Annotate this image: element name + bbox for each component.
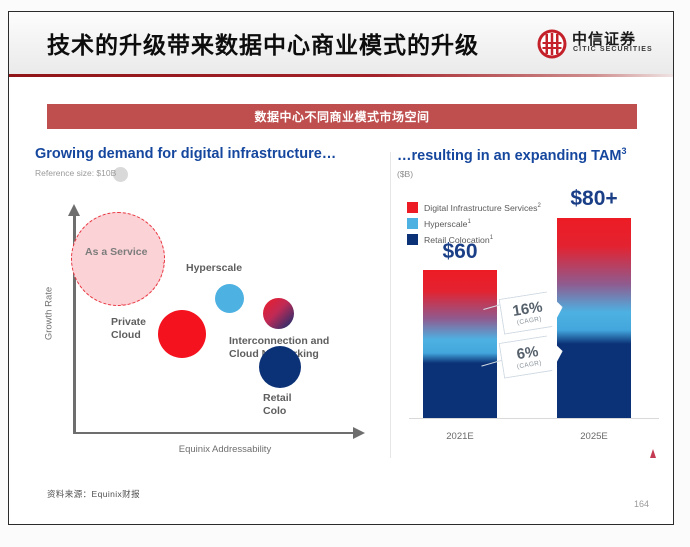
red-triangle-marker-icon xyxy=(650,449,656,458)
bubble-label-hyperscale: Hyperscale xyxy=(186,262,242,274)
page-title: 技术的升级带来数据中心商业模式的升级 xyxy=(47,26,479,60)
source-note: 资料来源：Equinix财报 xyxy=(47,488,140,500)
bar-chart-baseline xyxy=(409,418,659,419)
section-banner: 数据中心不同商业模式市场空间 xyxy=(47,104,637,129)
bar-2025e: $80+ xyxy=(557,218,631,418)
bubble-hyperscale xyxy=(215,284,244,313)
x-tick-2021e: 2021E xyxy=(423,431,497,442)
bar-total-2025e: $80+ xyxy=(557,187,631,211)
bubble-label-as-a-service: As a Service xyxy=(85,246,147,258)
right-panel: …resulting in an expanding TAM3 ($B) Dig… xyxy=(397,146,663,466)
bubble-as-a-service xyxy=(71,212,165,306)
right-panel-units: ($B) xyxy=(397,169,663,179)
x-tick-2025e: 2025E xyxy=(557,431,631,442)
bar-total-2021e: $60 xyxy=(423,240,497,264)
page-number: 164 xyxy=(634,499,649,509)
bubble-chart: Growth Rate Equinix Addressability As a … xyxy=(35,198,385,466)
y-axis-arrow-icon xyxy=(68,204,80,216)
logo-text-en: CITIC SECURITIES xyxy=(573,46,653,53)
reference-size-note: Reference size: $10B xyxy=(35,168,385,182)
citic-logo: 中信证券 CITIC SECURITIES xyxy=(537,29,655,61)
bubble-interconnection xyxy=(263,298,294,329)
reference-size-label: Reference size: $10B xyxy=(35,168,116,178)
x-axis-line xyxy=(73,432,357,435)
panel-divider xyxy=(390,152,391,458)
cagr-callout-6: 6% (CAGR) xyxy=(499,333,566,378)
right-panel-title: …resulting in an expanding TAM3 xyxy=(397,146,663,165)
y-axis-label: Growth Rate xyxy=(44,274,55,354)
left-panel: Growing demand for digital infrastructur… xyxy=(35,146,385,466)
bubble-retail-colo xyxy=(259,346,301,388)
bar-2021e: $60 xyxy=(423,270,497,418)
bubble-label-retail-colo: RetailColo xyxy=(263,392,292,418)
bar-chart: $60 $80+ 2021E 2025E 16% (CAGR) 6% xyxy=(397,202,663,466)
slide-frame: 技术的升级带来数据中心商业模式的升级 中信证券 CITIC SECURITIES… xyxy=(8,11,674,525)
x-axis-label: Equinix Addressability xyxy=(105,444,345,455)
right-panel-title-superscript: 3 xyxy=(622,146,627,156)
bubble-private-cloud xyxy=(158,310,206,358)
citic-logo-icon xyxy=(537,29,567,59)
bubble-label-private-cloud: PrivateCloud xyxy=(111,316,146,342)
bar-fill-2021e xyxy=(423,270,497,418)
left-panel-title: Growing demand for digital infrastructur… xyxy=(35,146,385,163)
x-axis-arrow-icon xyxy=(353,427,365,439)
cagr-callout-16: 16% (CAGR) xyxy=(499,289,566,334)
title-divider xyxy=(9,74,673,77)
title-bar: 技术的升级带来数据中心商业模式的升级 中信证券 CITIC SECURITIES xyxy=(9,12,673,74)
bar-fill-2025e xyxy=(557,218,631,418)
right-panel-title-text: …resulting in an expanding TAM xyxy=(397,148,622,164)
